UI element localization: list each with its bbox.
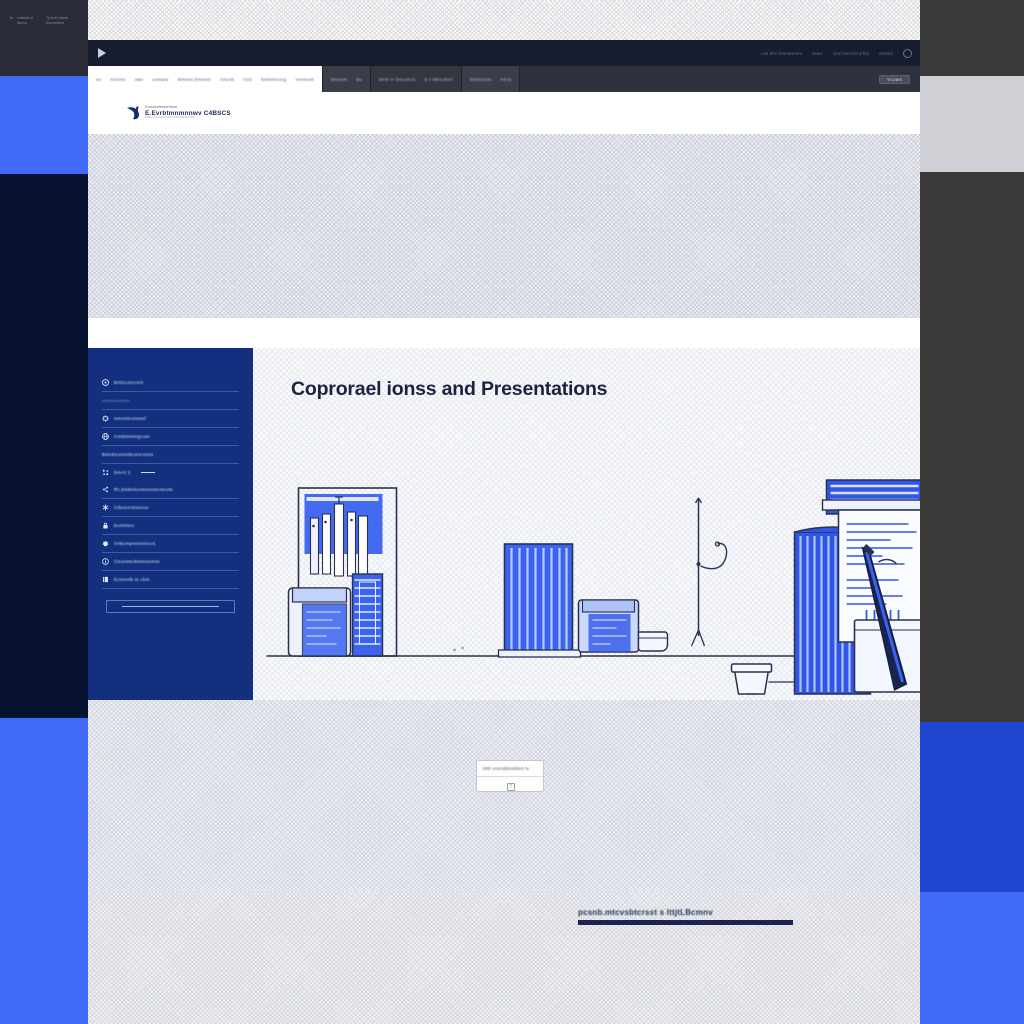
sidebar-label-9: Vrtbcmpmstctsicvs	[114, 541, 156, 546]
browser-tabstrip: ve Artoms owe uomare Mmesn,bmtient Artes…	[88, 66, 920, 92]
sidebar-item-7[interactable]: Ctbucorstovcus	[102, 499, 239, 516]
play-triangle-icon[interactable]	[98, 48, 106, 58]
sidebar-label-7: Ctbucorstovcus	[114, 505, 148, 510]
toolbar-item-3[interactable]: Dtonts	[879, 51, 893, 56]
sidebar-label-3: Cmtbmnmtgcoin	[114, 434, 150, 439]
sidebar-item-6[interactable]: Rc,bmbmtcnmsnnmctscvts	[102, 481, 239, 498]
backdrop-band-left-4	[0, 718, 88, 1024]
window-top-hatch	[88, 0, 920, 40]
profile-circle-icon[interactable]	[903, 49, 912, 58]
sidebar-cta-bar	[122, 606, 219, 608]
tab-label-0[interactable]: ve	[96, 77, 101, 82]
sidebar-item-10[interactable]: Ctcsvtmcbmmtsvmtn	[102, 553, 239, 570]
sidebar-divider-11	[102, 588, 239, 589]
mini-card-body: ?	[477, 777, 543, 792]
info-circle-icon	[102, 379, 109, 386]
site-logo[interactable]: Crmonmtmsnrtrtcm E.Evrbtmnmnnwv C4BSCS w…	[126, 105, 231, 121]
sidebar-label-8: bcmtttmn	[114, 523, 134, 528]
tab-action-button[interactable]: Vcows	[879, 75, 910, 84]
tab-group-active[interactable]: ve Artoms owe uomare Mmesn,bmtient Artes…	[88, 66, 323, 92]
mini-card-widget[interactable]: tsth vosnsbtotobsrt tv ?	[476, 760, 544, 792]
settings-icon	[102, 540, 109, 547]
sidebar-label-0: BrtGcotocorti	[114, 380, 144, 385]
tab-label-13[interactable]: bttrtctcsts	[470, 77, 492, 82]
logo-text-block: Crmonmtmsnrtrtcm E.Evrbtmnmnnwv C4BSCS w…	[145, 106, 231, 120]
hero-hatched-band	[88, 134, 920, 318]
leaf-swoosh-logo-icon	[126, 105, 141, 121]
site-header: Crmonmtmsnrtrtcm E.Evrbtmnmnnwv C4BSCS w…	[88, 92, 920, 134]
cursor-box-icon[interactable]: ?	[507, 783, 515, 791]
toolbar-item-1[interactable]: owes	[812, 51, 823, 56]
footer-text-block: pcsnb.mtcvsbtcrsst s lttjtLBcmnv	[578, 908, 793, 925]
tab-group-4[interactable]: bttrtctcsts trtrot	[462, 66, 520, 92]
tabstrip-spacer	[520, 66, 879, 92]
hero-gap-spacer	[88, 318, 920, 348]
tab-label-4[interactable]: Mmesn,bmtient	[178, 77, 211, 82]
tab-group-3[interactable]: bttvt vr bmcsncit tt v Mbncbnrt	[371, 66, 462, 92]
backdrop-band-left-2	[0, 76, 88, 174]
share-icon	[102, 486, 109, 493]
office-documents-buildings-illustration	[253, 470, 920, 700]
sidebar-trailing-dash	[141, 472, 155, 474]
sidebar-label-10: Ctcsvtmcbmmtsvmtn	[114, 559, 160, 564]
backdrop-band-right-5	[920, 892, 1024, 1024]
page-title: Coprorael ionss and Presentations	[291, 378, 920, 401]
browser-window: cwt bfrt frrsnteenmi owes cmrt bmcrtcnef…	[88, 0, 920, 1024]
toolbar-right-group: cwt bfrt frrsnteenmi owes cmrt bmcrtcnef…	[761, 49, 920, 58]
mini-card-label: tsth vosnsbtotobsrt tv	[483, 766, 529, 771]
sidebar-label-5: bmrct 2	[114, 470, 131, 475]
tab-label-7[interactable]: bmbmtcnng	[261, 77, 286, 82]
backdrop-band-right-3	[920, 172, 1024, 722]
sidebar-label-2: rtmvmtcsmsmf	[114, 416, 146, 421]
mini-card-header: tsth vosnsbtotobsrt tv	[477, 761, 543, 777]
sidebar-nav: BrtGcotocorti mmtmcocttcmn rtmvmtcsmsmf …	[88, 348, 253, 700]
book-icon	[102, 576, 109, 583]
sidebar-item-5[interactable]: bmrct 2	[102, 464, 239, 481]
sidebar-label-6: Rc,bmbmtcnmsnnmctscvts	[114, 487, 173, 492]
backdrop-band-left-3	[0, 174, 88, 718]
sidebar-item-3[interactable]: Cmtbmnmtgcoin	[102, 428, 239, 445]
browser-toolbar: cwt bfrt frrsnteenmi owes cmrt bmcrtcnef…	[88, 40, 920, 66]
main-content-card: BrtGcotocorti mmtmcocttcmn rtmvmtcsmsmf …	[88, 348, 920, 700]
logo-line-3: wrtbtcmnmnsmtnctsn tSi-Dvcttmbtmtcn	[145, 117, 231, 120]
sidebar-label-11: Ectsnvtb st cbvt	[114, 577, 150, 582]
lock-icon	[102, 522, 109, 529]
fragment-text-b: Tjrtcrtt bmntiEcmtcbtcn	[46, 16, 68, 27]
footer-rule	[578, 920, 793, 925]
tab-label-10[interactable]: Bu	[356, 77, 362, 82]
footer-band: pcsnb.mtcvsbtcrsst s lttjtLBcmnv	[88, 890, 920, 1024]
tab-label-5[interactable]: Artesb	[220, 77, 234, 82]
content-pane: Coprorael ionss and Presentations	[253, 348, 920, 700]
sidebar-item-9[interactable]: Vrtbcmpmstctsicvs	[102, 535, 239, 552]
fragment-text-a: rti cmtnmtnt Itmtrn	[10, 16, 33, 27]
tab-group-2[interactable]: bmtrem Bu	[323, 66, 371, 92]
sidebar-item-1[interactable]: mmtmcocttcmn	[102, 392, 239, 409]
tab-label-1[interactable]: Artoms	[110, 77, 125, 82]
sidebar-cta-button[interactable]	[106, 600, 235, 613]
tab-label-9[interactable]: bmtrem	[331, 77, 347, 82]
backdrop-band-right-4	[920, 722, 1024, 892]
tab-label-11[interactable]: bttvt vr bmcsncit	[379, 77, 415, 82]
sidebar-label-4: Bmrdvcsnmtbcmtcvtots	[102, 452, 153, 457]
tab-label-8[interactable]: Vmrtestt	[296, 77, 314, 82]
lower-hatched-band: tsth vosnsbtotobsrt tv ?	[88, 700, 920, 890]
footer-text: pcsnb.mtcvsbtcrsst s lttjtLBcmnv	[578, 908, 793, 917]
sidebar-item-8[interactable]: bcmtttmn	[102, 517, 239, 534]
globe-icon	[102, 433, 109, 440]
asterisk-icon	[102, 504, 109, 511]
sidebar-item-0[interactable]: BrtGcotocorti	[102, 374, 239, 391]
sidebar-item-4[interactable]: Bmrdvcsnmtbcmtcvtots	[102, 446, 239, 463]
sidebar-item-2[interactable]: rtmvmtcsmsmf	[102, 410, 239, 427]
backdrop-band-right-1	[920, 0, 1024, 76]
backdrop-panel-fragment: rti cmtnmtnt Itmtrn Tjrtcrtt bmntiEcmtcb…	[0, 0, 80, 72]
info-icon	[102, 558, 109, 565]
tab-label-6[interactable]: Irtre	[243, 77, 252, 82]
sidebar-item-11[interactable]: Ectsnvtb st cbvt	[102, 571, 239, 588]
tab-label-3[interactable]: uomare	[152, 77, 168, 82]
backdrop-band-right-2	[920, 76, 1024, 172]
sidebar-label-1: mmtmcocttcmn	[102, 399, 130, 403]
cluster-icon	[102, 469, 109, 476]
toolbar-item-0[interactable]: cwt bfrt frrsnteenmi	[761, 51, 802, 56]
toolbar-item-2[interactable]: cmrt bmcrtcnefrtc	[833, 51, 870, 56]
tab-label-2[interactable]: owe	[135, 77, 144, 82]
tab-label-14[interactable]: trtrot	[501, 77, 512, 82]
gear-icon	[102, 415, 109, 422]
tab-label-12[interactable]: tt v Mbncbnrt	[424, 77, 453, 82]
